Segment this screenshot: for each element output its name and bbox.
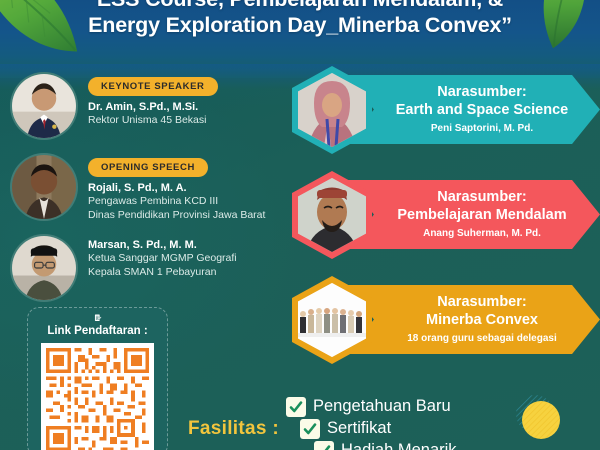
narasumber-person: 18 orang guru sebagai delegasi bbox=[407, 331, 557, 346]
facilities-list: Pengetahuan Baru Sertifikat Hadiah Menar… bbox=[286, 396, 457, 450]
circle-decoration bbox=[512, 392, 564, 444]
narasumber-topic: Minerba Convex bbox=[426, 311, 538, 329]
speaker-info: KEYNOTE SPEAKER Dr. Amin, S.Pd., M.Si. R… bbox=[78, 72, 300, 128]
narasumber-column: Narasumber: Earth and Space Science Peni… bbox=[290, 62, 600, 377]
speaker-card: KEYNOTE SPEAKER Dr. Amin, S.Pd., M.Si. R… bbox=[10, 72, 300, 146]
narasumber-card: Narasumber: Minerba Convex 18 orang guru… bbox=[290, 272, 600, 367]
speaker-card: Marsan, S. Pd., M. M. Ketua Sanggar MGMP… bbox=[10, 234, 300, 308]
speakers-column: KEYNOTE SPEAKER Dr. Amin, S.Pd., M.Si. R… bbox=[10, 72, 300, 315]
narasumber-heading: Narasumber: bbox=[437, 188, 526, 206]
list-item: Hadiah Menarik bbox=[314, 440, 457, 450]
narasumber-topic: Pembelajaran Mendalam bbox=[397, 206, 566, 224]
facility-text: Pengetahuan Baru bbox=[313, 396, 451, 417]
narasumber-banner: Narasumber: Minerba Convex 18 orang guru… bbox=[346, 285, 600, 354]
check-icon bbox=[286, 397, 306, 417]
narasumber-banner: Narasumber: Pembelajaran Mendalam Anang … bbox=[346, 180, 600, 249]
narasumber-heading: Narasumber: bbox=[437, 83, 526, 101]
narasumber-person: Anang Suherman, M. Pd. bbox=[423, 226, 541, 241]
registration-card[interactable]: Link Pendaftaran : bbox=[27, 307, 168, 450]
hexagon-photo-frame bbox=[292, 276, 372, 364]
facilities-label: Fasilitas : bbox=[188, 418, 279, 440]
avatar bbox=[10, 153, 78, 221]
hexagon-photo-frame bbox=[292, 66, 372, 154]
narasumber-person: Peni Saptorini, M. Pd. bbox=[431, 121, 533, 136]
poster-title: ESS Course, Pembelajaran Mendalam, & Ene… bbox=[0, 0, 600, 38]
registration-qr-code[interactable] bbox=[41, 343, 154, 450]
narasumber-heading: Narasumber: bbox=[437, 293, 526, 311]
check-icon bbox=[300, 419, 320, 439]
list-item: Pengetahuan Baru bbox=[286, 396, 457, 417]
narasumber-topic: Earth and Space Science bbox=[396, 101, 568, 119]
speaker-info: Marsan, S. Pd., M. M. Ketua Sanggar MGMP… bbox=[78, 234, 300, 279]
title-line-1: ESS Course, Pembelajaran Mendalam, & bbox=[14, 0, 586, 12]
narasumber-card: Narasumber: Pembelajaran Mendalam Anang … bbox=[290, 167, 600, 262]
speaker-name: Marsan, S. Pd., M. M. bbox=[88, 238, 300, 252]
speaker-name: Dr. Amin, S.Pd., M.Si. bbox=[88, 100, 300, 114]
speaker-role: Pengawas Pembina KCD III bbox=[88, 195, 300, 209]
form-pencil-icon bbox=[90, 314, 106, 322]
speaker-card: OPENING SPEECH Rojali, S. Pd., M. A. Pen… bbox=[10, 153, 300, 227]
list-item: Sertifikat bbox=[300, 418, 457, 439]
speaker-role: Rektor Unisma 45 Bekasi bbox=[88, 114, 300, 128]
speaker-role: Dinas Pendidikan Provinsi Jawa Barat bbox=[88, 209, 300, 223]
narasumber-card: Narasumber: Earth and Space Science Peni… bbox=[290, 62, 600, 157]
facility-text: Sertifikat bbox=[327, 418, 391, 439]
facility-text: Hadiah Menarik bbox=[341, 440, 457, 450]
speaker-name: Rojali, S. Pd., M. A. bbox=[88, 181, 300, 195]
hexagon-photo-frame bbox=[292, 171, 372, 259]
speaker-badge: OPENING SPEECH bbox=[88, 158, 208, 177]
check-icon bbox=[314, 441, 334, 450]
avatar bbox=[10, 234, 78, 302]
narasumber-banner: Narasumber: Earth and Space Science Peni… bbox=[346, 75, 600, 144]
speaker-badge: KEYNOTE SPEAKER bbox=[88, 77, 218, 96]
speaker-info: OPENING SPEECH Rojali, S. Pd., M. A. Pen… bbox=[78, 153, 300, 222]
speaker-role: Kepala SMAN 1 Pebayuran bbox=[88, 266, 300, 280]
avatar bbox=[10, 72, 78, 140]
poster-canvas: ESS Course, Pembelajaran Mendalam, & Ene… bbox=[0, 0, 600, 450]
speaker-role: Ketua Sanggar MGMP Geografi bbox=[88, 252, 300, 266]
title-line-2: Energy Exploration Day_Minerba Convex” bbox=[14, 12, 586, 38]
registration-label: Link Pendaftaran : bbox=[47, 324, 147, 338]
